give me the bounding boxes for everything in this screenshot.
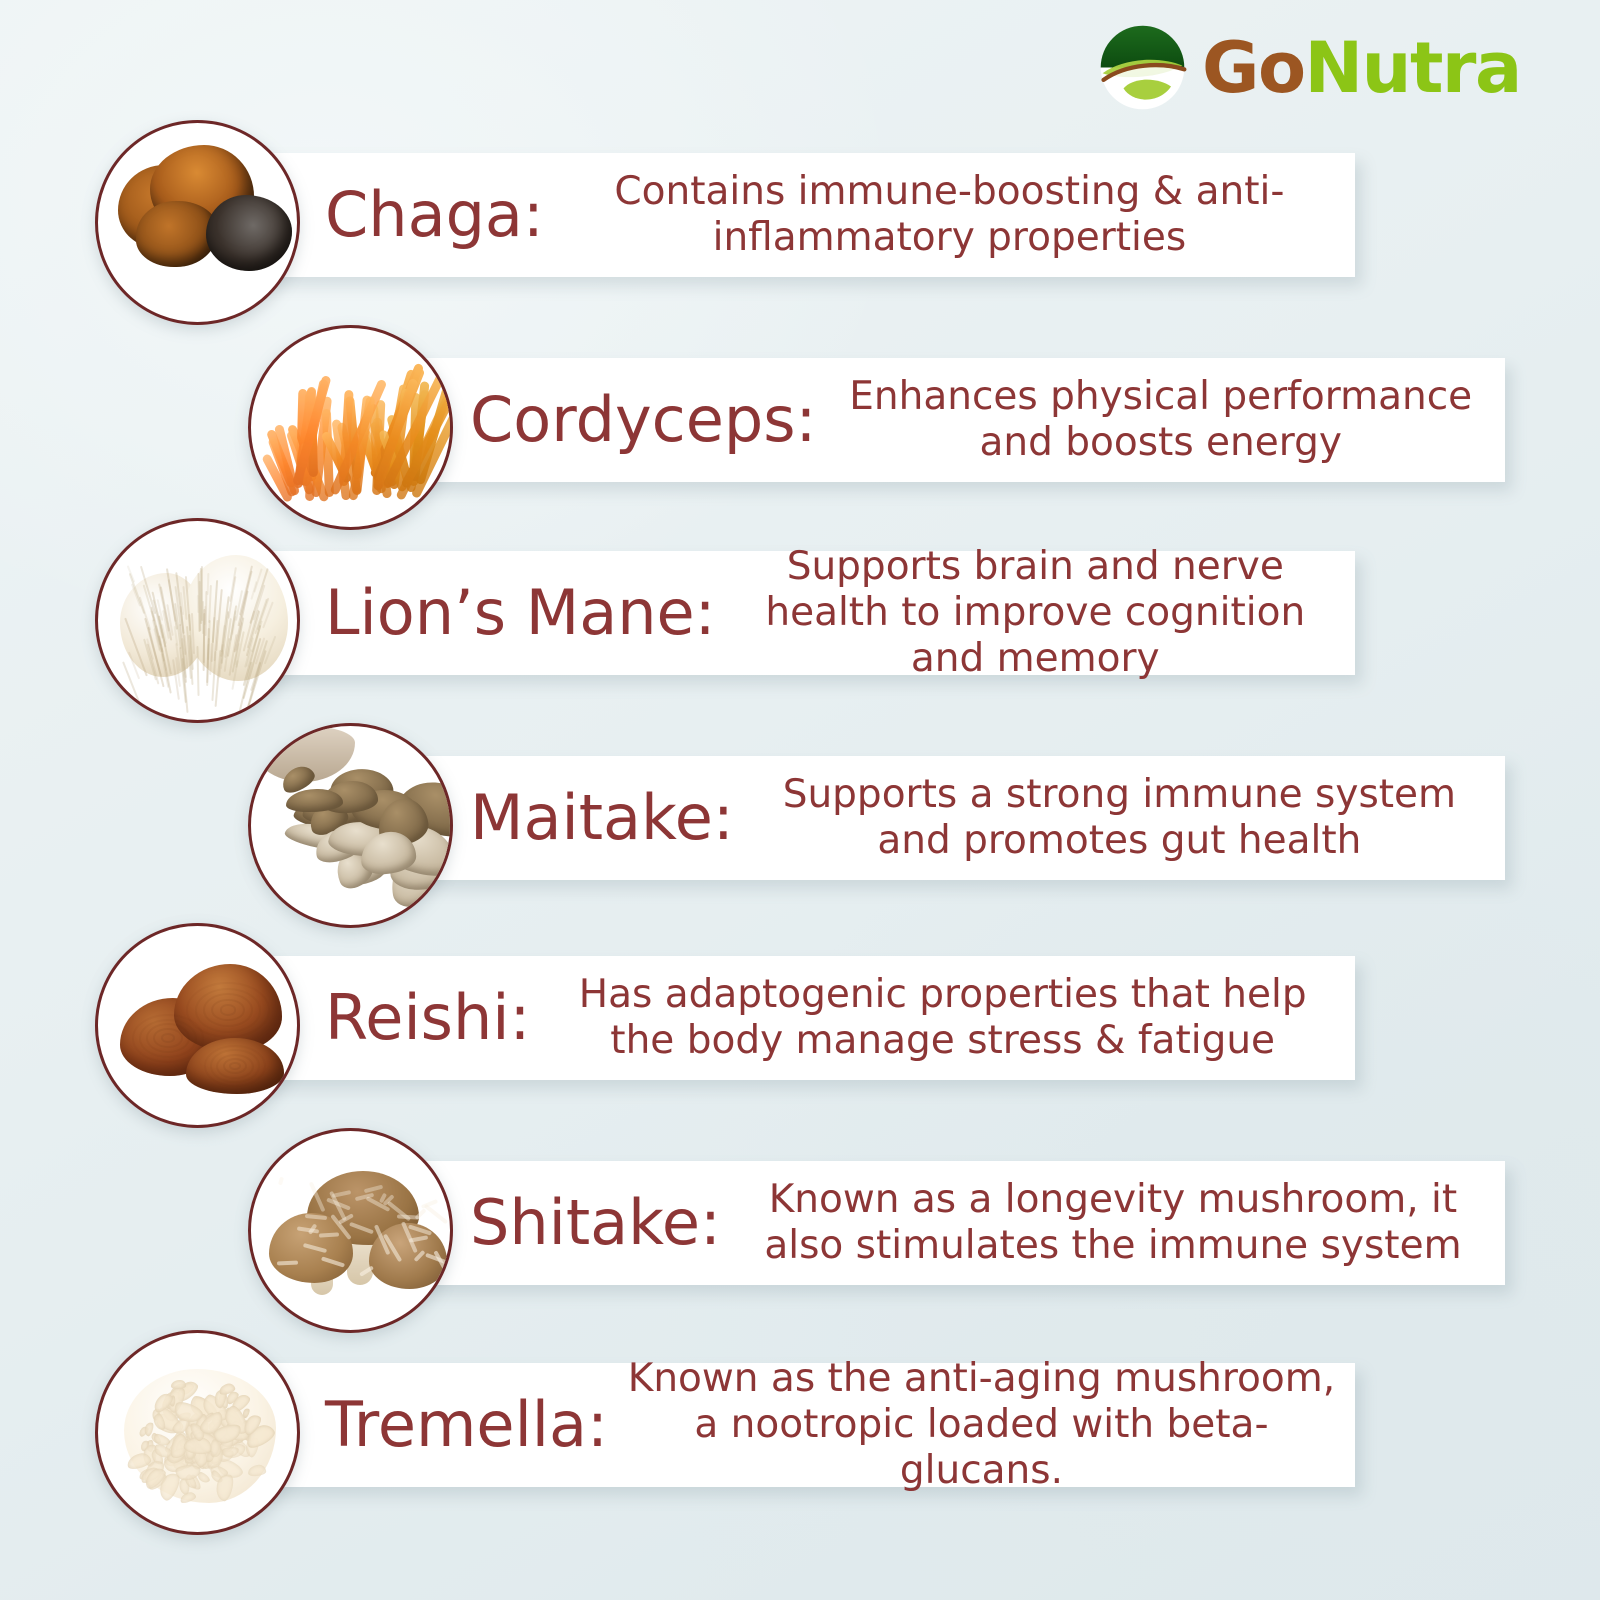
chaga-mushroom-photo	[95, 120, 300, 325]
list-item: Chaga: Contains immune-boosting & anti-i…	[0, 120, 1600, 320]
info-bar: Reishi: Has adaptogenic properties that …	[195, 956, 1355, 1080]
mushroom-description: Has adaptogenic properties that help the…	[530, 972, 1355, 1064]
list-item: Shitake: Known as a longevity mushroom, …	[0, 1128, 1600, 1328]
info-bar: Cordyceps: Enhances physical performance…	[330, 358, 1505, 482]
lions-mane-mushroom-photo	[95, 518, 300, 723]
brand-wordmark: GoNutra	[1202, 33, 1521, 103]
brand-logo: GoNutra	[1095, 20, 1521, 115]
mushroom-name: Reishi:	[325, 987, 530, 1049]
mushroom-description: Contains immune-boosting & anti-inflamma…	[544, 169, 1355, 261]
info-bar: Tremella: Known as the anti-aging mushro…	[195, 1363, 1355, 1487]
list-item: Cordyceps: Enhances physical performance…	[0, 325, 1600, 525]
infographic-canvas: GoNutra Chaga: Contains immune-boosting …	[0, 0, 1600, 1600]
list-item: Maitake: Supports a strong immune system…	[0, 723, 1600, 923]
info-bar: Shitake: Known as a longevity mushroom, …	[330, 1161, 1505, 1285]
maitake-mushroom-photo	[248, 723, 453, 928]
mushroom-name: Maitake:	[470, 787, 734, 849]
mushroom-description: Enhances physical performance and boosts…	[816, 374, 1505, 466]
shitake-mushroom-photo	[248, 1128, 453, 1333]
mushroom-description: Supports brain and nerve health to impro…	[716, 544, 1355, 682]
info-bar: Maitake: Supports a strong immune system…	[330, 756, 1505, 880]
mushroom-name: Tremella:	[325, 1394, 608, 1456]
tremella-mushroom-photo	[95, 1330, 300, 1535]
list-item: Tremella: Known as the anti-aging mushro…	[0, 1330, 1600, 1530]
info-bar: Lion’s Mane: Supports brain and nerve he…	[195, 551, 1355, 675]
mushroom-name: Lion’s Mane:	[325, 582, 716, 644]
reishi-mushroom-photo	[95, 923, 300, 1128]
mushroom-description: Supports a strong immune system and prom…	[734, 772, 1505, 864]
mushroom-name: Shitake:	[470, 1192, 721, 1254]
mushroom-name: Cordyceps:	[470, 389, 816, 451]
list-item: Lion’s Mane: Supports brain and nerve he…	[0, 518, 1600, 718]
list-item: Reishi: Has adaptogenic properties that …	[0, 923, 1600, 1123]
leaf-globe-logo-icon	[1095, 20, 1190, 115]
brand-name-nutra: Nutra	[1305, 27, 1521, 109]
mushroom-description: Known as the anti-aging mushroom, a noot…	[608, 1356, 1355, 1494]
mushroom-name: Chaga:	[325, 184, 544, 246]
mushroom-description: Known as a longevity mushroom, it also s…	[721, 1177, 1505, 1269]
cordyceps-mushroom-photo	[248, 325, 453, 530]
info-bar: Chaga: Contains immune-boosting & anti-i…	[195, 153, 1355, 277]
brand-name-go: Go	[1202, 27, 1305, 109]
